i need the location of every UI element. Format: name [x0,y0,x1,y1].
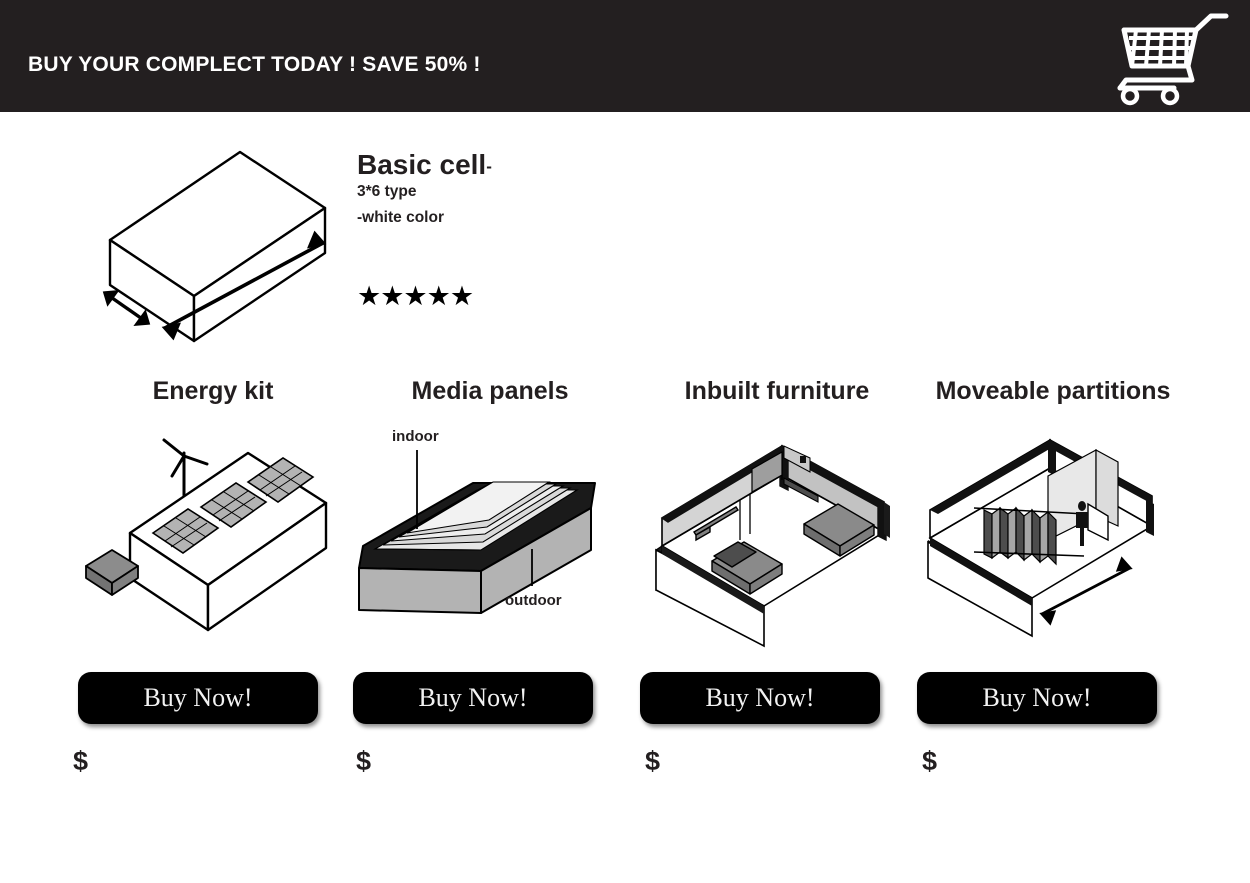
basic-cell-info: Basic cell- 3*6 type -white color ★★★★★ [357,150,677,310]
shopping-cart-icon[interactable] [1108,8,1238,104]
media-panels-label-indoor: indoor [392,428,439,445]
basic-cell-title: Basic cell- [357,150,677,179]
buy-now-button-energy-kit[interactable]: Buy Now! [78,672,318,724]
product-column-energy-kit: Energy kit [68,378,358,643]
product-title-energy-kit: Energy kit [68,378,358,406]
buy-now-label: Buy Now! [982,685,1091,711]
product-column-moveable-partitions: Moveable partitions [908,378,1198,643]
basic-cell-spec-type: 3*6 type [357,179,677,204]
basic-cell-title-dash: - [486,157,492,176]
energy-kit-illustration [68,428,358,643]
product-title-inbuilt-furniture: Inbuilt furniture [632,378,922,406]
basic-cell-spec-color: -white color [357,205,677,230]
price-inbuilt-furniture: $ [645,748,660,775]
basic-cell-illustration [80,130,370,355]
media-panels-illustration: indoor outdoor [345,428,635,643]
buy-now-label: Buy Now! [143,685,252,711]
buy-now-label: Buy Now! [418,685,527,711]
price-media-panels: $ [356,748,371,775]
buy-now-button-inbuilt-furniture[interactable]: Buy Now! [640,672,880,724]
product-title-media-panels: Media panels [345,378,635,406]
buy-now-button-media-panels[interactable]: Buy Now! [353,672,593,724]
price-energy-kit: $ [73,748,88,775]
buy-now-button-moveable-partitions[interactable]: Buy Now! [917,672,1157,724]
product-column-inbuilt-furniture: Inbuilt furniture [632,378,922,643]
product-title-moveable-partitions: Moveable partitions [908,378,1198,406]
moveable-partitions-illustration [908,428,1198,643]
buy-now-label: Buy Now! [705,685,814,711]
media-panels-label-outdoor: outdoor [505,592,562,609]
price-moveable-partitions: $ [922,748,937,775]
header-bar: BUY YOUR COMPLECT TODAY ! SAVE 50% ! [0,0,1250,112]
product-column-media-panels: Media panels indoor outdoor [345,378,635,643]
basic-cell-title-text: Basic cell [357,149,486,180]
inbuilt-furniture-illustration [632,428,922,643]
promo-banner-text: BUY YOUR COMPLECT TODAY ! SAVE 50% ! [28,53,481,77]
star-rating: ★★★★★ [357,283,677,310]
